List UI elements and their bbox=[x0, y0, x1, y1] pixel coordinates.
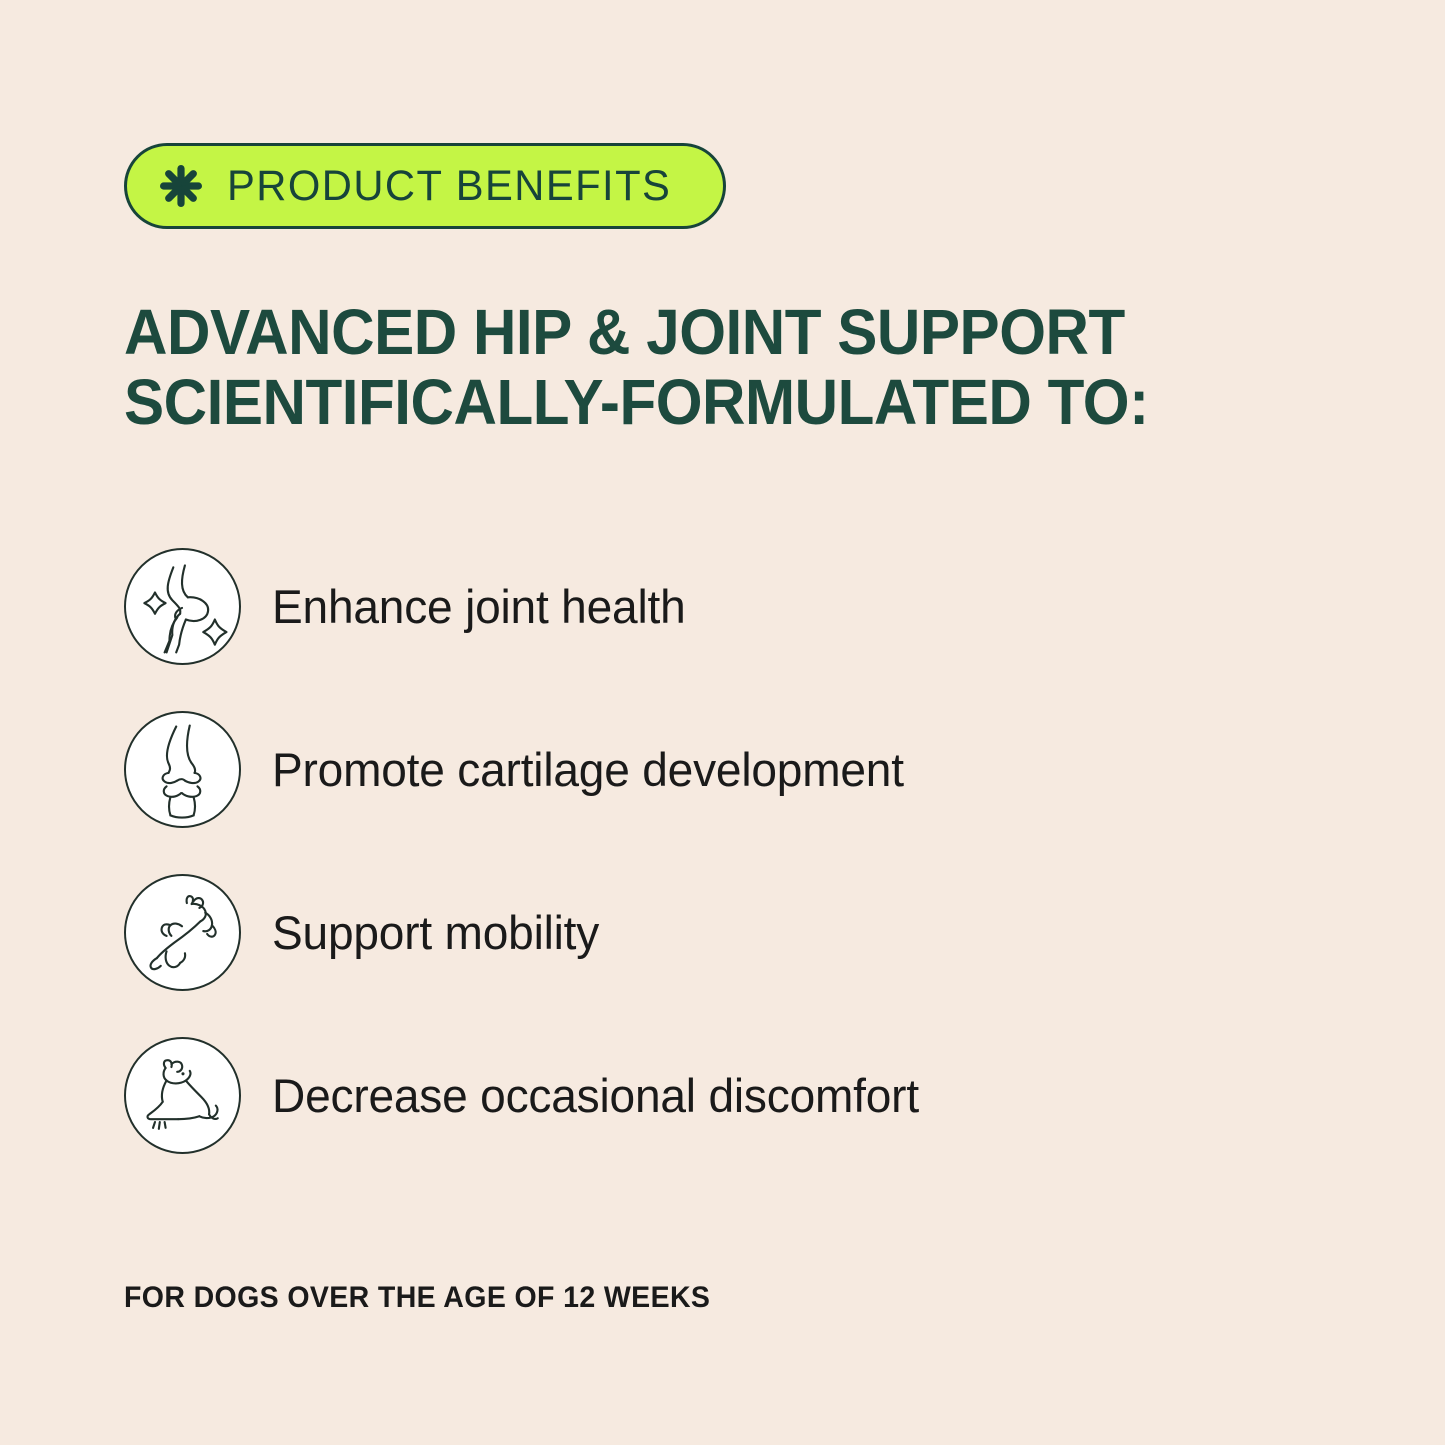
page-title-line-1: ADVANCED HIP & JOINT SUPPORT bbox=[124, 298, 1290, 368]
benefit-label: Support mobility bbox=[272, 907, 599, 959]
cartilage-joint-icon bbox=[124, 711, 241, 828]
product-benefits-badge-label: PRODUCT BENEFITS bbox=[227, 165, 671, 208]
product-benefits-panel: PRODUCT BENEFITS ADVANCED HIP & JOINT SU… bbox=[0, 0, 1445, 1445]
product-benefits-badge-wrapper: PRODUCT BENEFITS bbox=[124, 143, 726, 229]
sparkling-knee-joint-icon bbox=[124, 548, 241, 665]
leaping-dog-icon bbox=[124, 874, 241, 991]
asterisk-icon bbox=[157, 162, 205, 210]
benefit-item-enhance-joint-health: Enhance joint health bbox=[124, 548, 932, 665]
age-requirement-note: FOR DOGS OVER THE AGE OF 12 WEEKS bbox=[124, 1283, 710, 1313]
benefits-list: Enhance joint health bbox=[124, 548, 932, 1154]
page-title-line-2: SCIENTIFICALLY-FORMULATED TO: bbox=[124, 368, 1290, 438]
benefit-item-decrease-occasional-discomfort: Decrease occasional discomfort bbox=[124, 1037, 932, 1154]
benefit-label: Enhance joint health bbox=[272, 581, 686, 633]
product-benefits-badge: PRODUCT BENEFITS bbox=[124, 143, 726, 229]
resting-dog-icon bbox=[124, 1037, 241, 1154]
benefit-label: Promote cartilage development bbox=[272, 744, 904, 796]
benefit-item-promote-cartilage-development: Promote cartilage development bbox=[124, 711, 932, 828]
benefit-item-support-mobility: Support mobility bbox=[124, 874, 932, 991]
page-title: ADVANCED HIP & JOINT SUPPORT SCIENTIFICA… bbox=[124, 298, 1290, 438]
benefit-label: Decrease occasional discomfort bbox=[272, 1070, 919, 1122]
